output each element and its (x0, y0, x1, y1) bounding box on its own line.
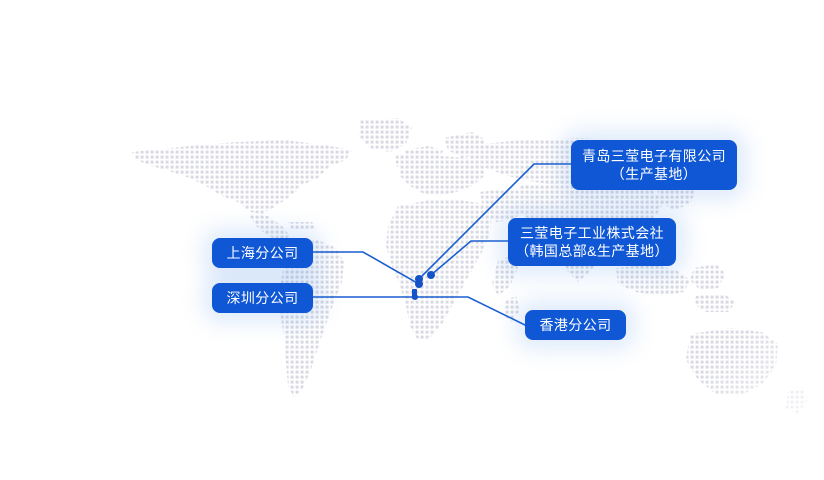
callout-korea-line-2: （韩国总部&生产基地） (515, 242, 669, 260)
callout-hongkong[interactable]: 香港分公司 (525, 310, 626, 340)
world-map-infographic: 青岛三莹电子有限公司 （生产基地） 三莹电子工业株式会社 （韩国总部&生产基地）… (0, 0, 824, 480)
callout-qingdao-line-2: （生产基地） (611, 165, 697, 183)
callout-qingdao-line-1: 青岛三莹电子有限公司 (582, 147, 726, 165)
callout-shenzhen[interactable]: 深圳分公司 (212, 283, 313, 313)
callout-shanghai[interactable]: 上海分公司 (212, 238, 313, 268)
callout-shenzhen-label: 深圳分公司 (227, 289, 299, 307)
world-map (0, 0, 824, 480)
callout-qingdao[interactable]: 青岛三莹电子有限公司 （生产基地） (571, 140, 737, 190)
callout-korea[interactable]: 三莹电子工业株式会社 （韩国总部&生产基地） (508, 218, 676, 266)
callout-shanghai-label: 上海分公司 (227, 244, 299, 262)
world-map-dots (0, 0, 824, 480)
callout-hongkong-label: 香港分公司 (540, 316, 612, 334)
callout-korea-line-1: 三莹电子工业株式会社 (520, 224, 664, 242)
